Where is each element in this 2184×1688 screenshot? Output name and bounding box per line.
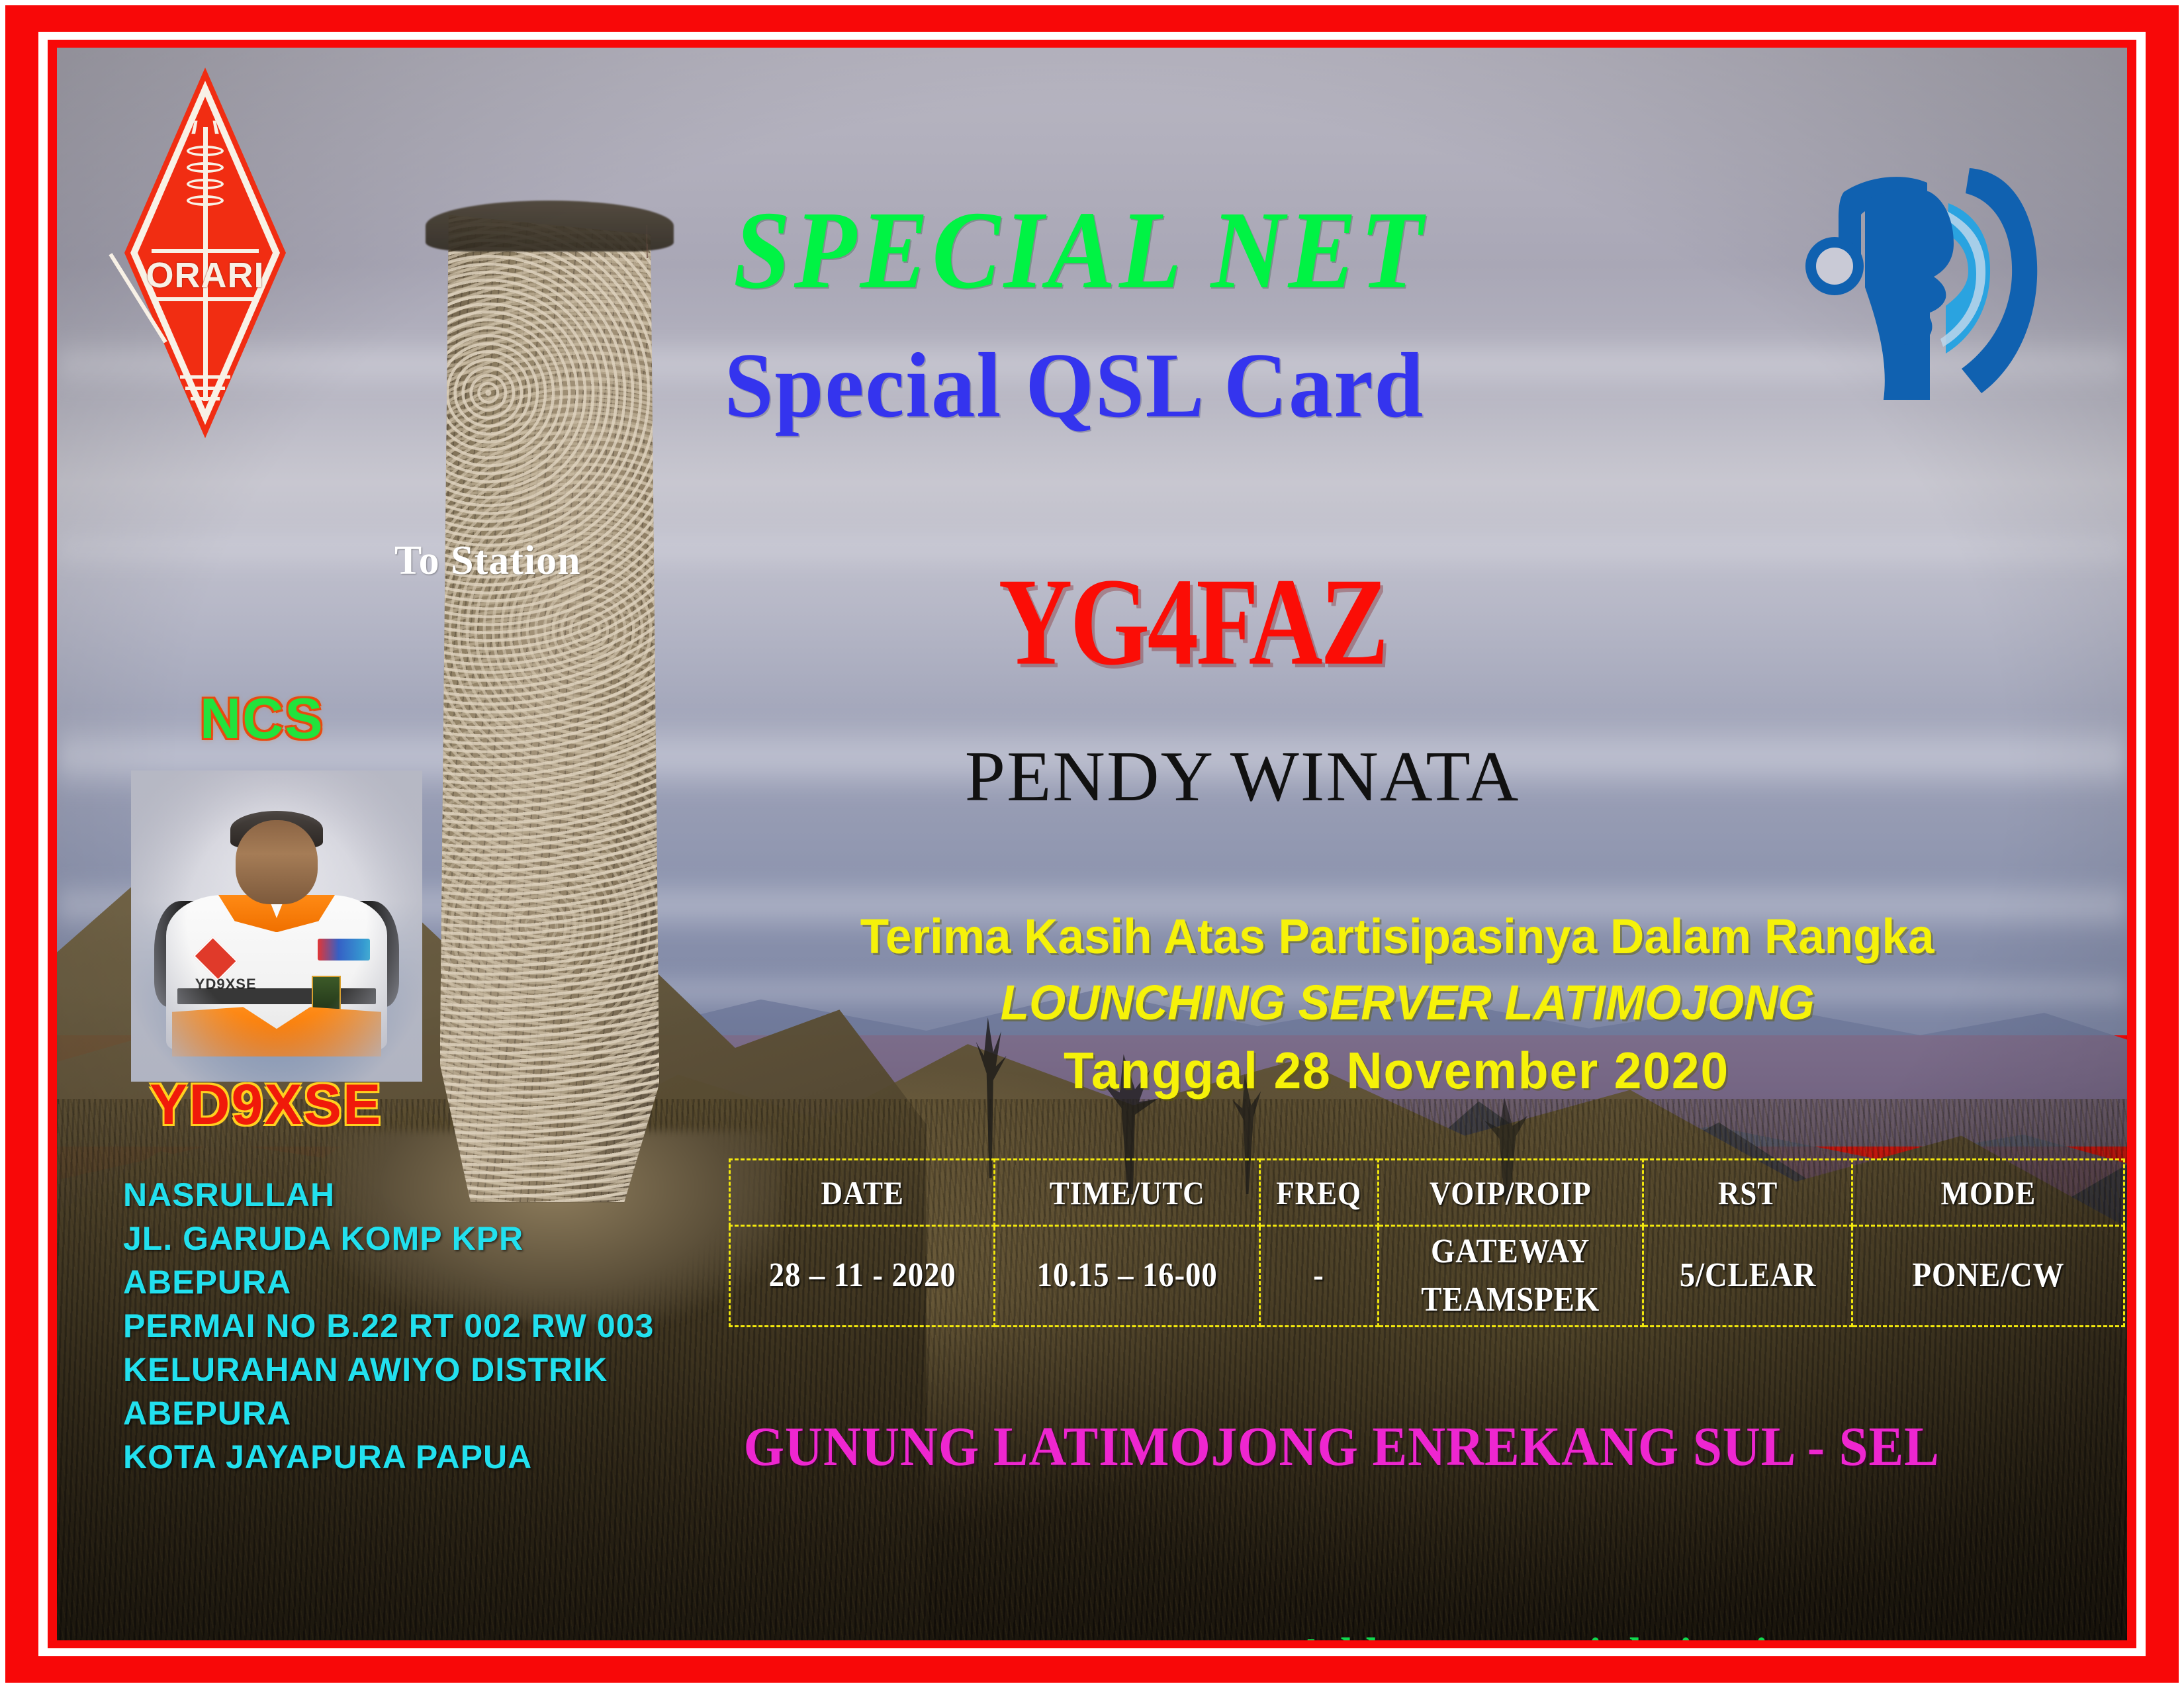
antenna-coil-icon	[187, 146, 224, 156]
page-title: SPECIAL NET	[128, 187, 2032, 314]
to-station-label: To Station	[394, 538, 581, 585]
event-line: LOUNCHING SERVER LATIMOJONG	[1001, 974, 1815, 1031]
card-photo-area: ORARI SPECIAL NET	[57, 48, 2127, 1640]
qso-log-table: DATE TIME/UTC FREQ VOIP/ROIP RST MODE 28…	[729, 1158, 2125, 1327]
address-line: ABEPURA	[123, 1260, 654, 1304]
address-line: NASRULLAH	[123, 1173, 654, 1217]
address-line: PERMAI NO B.22 RT 002 RW 003	[123, 1304, 654, 1348]
ncs-label: NCS	[200, 686, 324, 752]
cell-voip: GATEWAY TEAMSPEK	[1391, 1226, 1629, 1327]
address-line: JL. GARUDA KOMP KPR	[123, 1217, 654, 1260]
table-header-date: DATE	[743, 1160, 981, 1226]
cell-rst: 5/CLEAR	[1653, 1226, 1841, 1327]
address-line: KELURAHAN AWIYO DISTRIK	[123, 1348, 654, 1391]
cell-date: 28 – 11 - 2020	[743, 1226, 981, 1327]
footer-slogan: "AMATIR RADIO ADALAH PROGRESIVE"	[136, 1630, 1027, 1640]
antenna-coil-icon	[187, 162, 224, 173]
page-subtitle: Special QSL Card	[91, 332, 2058, 439]
table-row: 28 – 11 - 2020 10.15 – 16-00 - GATEWAY T…	[730, 1226, 2124, 1327]
qsl-card: ORARI SPECIAL NET	[0, 0, 2184, 1688]
recipient-callsign: YG4FAZ	[999, 551, 1387, 694]
recipient-operator-name: PENDY WINATA	[965, 736, 1520, 818]
portrait-edge-fade	[131, 771, 422, 1082]
address-line: KOTA JAYAPURA PAPUA	[123, 1435, 654, 1479]
cell-mode: PONE/CW	[1866, 1226, 2111, 1327]
thanks-line: Terima Kasih Atas Partisipasinya Dalam R…	[860, 908, 1934, 964]
table-header-freq: FREQ	[1265, 1160, 1372, 1226]
ncs-operator-photo: YD9XSE	[131, 771, 422, 1082]
table-header-time: TIME/UTC	[1008, 1160, 1246, 1226]
address-line: ABEPURA	[123, 1391, 654, 1435]
event-date-line: Tanggal 28 November 2020	[1064, 1041, 1729, 1101]
sender-address-block: NASRULLAH JL. GARUDA KOMP KPR ABEPURA PE…	[123, 1173, 654, 1479]
cell-freq: -	[1265, 1226, 1372, 1327]
table-header-mode: MODE	[1866, 1160, 2111, 1226]
cell-time: 10.15 – 16-00	[1008, 1226, 1246, 1327]
table-header-voip: VOIP/ROIP	[1391, 1160, 1629, 1226]
table-header-row: DATE TIME/UTC FREQ VOIP/ROIP RST MODE	[730, 1160, 2124, 1226]
table-header-rst: RST	[1653, 1160, 1841, 1226]
location-line: GUNUNG LATIMOJONG ENREKANG SUL - SEL	[744, 1415, 1940, 1479]
footer-address: Address : amatir.latimojong.com	[1295, 1626, 1931, 1640]
ncs-callsign: YD9XSE	[150, 1072, 382, 1138]
